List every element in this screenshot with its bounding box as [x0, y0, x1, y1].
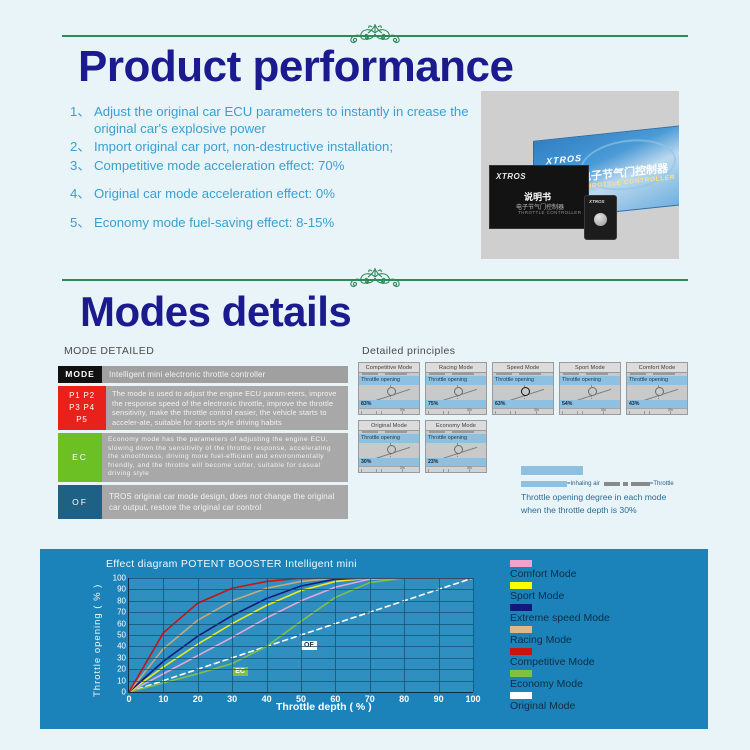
- gridline-v: [404, 578, 405, 692]
- list-item-text: Competitive mode acceleration effect: 70…: [94, 158, 470, 175]
- panel-title: Comfort Mode: [626, 362, 688, 373]
- panel-throttle-circle-icon: [521, 387, 530, 396]
- mini-legend-caption: Throttle opening degree in each mode whe…: [521, 491, 731, 516]
- x-axis-tick: 40: [262, 694, 272, 704]
- mode-description: The mode is used to adjust the engine EC…: [106, 386, 348, 430]
- panel-percentage: 83%: [359, 400, 419, 408]
- list-item-number: 5、: [70, 215, 94, 232]
- panel-band-label: Throttle opening: [359, 434, 419, 443]
- list-item: 5、 Economy mode fuel-saving effect: 8-15…: [70, 215, 470, 232]
- y-axis-tick: 0: [122, 688, 126, 697]
- panel-foot-value: 3%: [601, 408, 606, 412]
- principle-row-1: Competitive Mode Throttle opening 83% 3%…: [358, 362, 688, 415]
- chart-plot-area: OF EC 0102030405060708090100010203040506…: [128, 578, 473, 693]
- x-axis-tick: 30: [227, 694, 237, 704]
- panel-tab-right: [385, 373, 407, 375]
- device-knob-icon: [594, 213, 607, 226]
- list-item-number: 1、: [70, 104, 94, 137]
- legend-label: Comfort Mode: [510, 568, 700, 580]
- panel-body: Throttle opening 30% 3%: [358, 431, 420, 473]
- panel-foot-value: 3%: [400, 408, 405, 412]
- panel-body: Throttle opening 63% 3%: [492, 373, 554, 415]
- panel-percentage: 75%: [426, 400, 486, 408]
- y-axis-tick: 60: [117, 619, 126, 628]
- mode-description: Economy mode has the parameters of adjus…: [102, 433, 348, 482]
- panel-body: Throttle opening 54% 3%: [559, 373, 621, 415]
- principle-panel: Comfort Mode Throttle opening 43% 3%: [626, 362, 688, 415]
- page-title-product-performance: Product performance: [78, 42, 513, 92]
- panel-percentage: 63%: [493, 400, 553, 408]
- throttle-label: =Throttle: [650, 481, 674, 487]
- mode-chip: OF: [58, 485, 102, 519]
- gridline-v: [198, 578, 199, 692]
- gridline-v: [335, 578, 336, 692]
- device-brand-logo: XTROS: [589, 199, 605, 204]
- x-axis-tick: 80: [399, 694, 409, 704]
- panel-band-label: Throttle opening: [627, 376, 687, 385]
- panel-foot-value: 3%: [534, 408, 539, 412]
- table-row: EC Economy mode has the parameters of ad…: [58, 433, 348, 482]
- y-axis-tick: 50: [117, 631, 126, 640]
- x-axis-tick: 90: [434, 694, 444, 704]
- legend-swatch: [510, 604, 532, 611]
- legend-swatch: [510, 670, 532, 677]
- detailed-principles-label: Detailed principles: [362, 345, 455, 357]
- y-axis-tick: 100: [113, 574, 126, 583]
- legend-swatch: [510, 560, 532, 567]
- legend-swatch: [510, 582, 532, 589]
- panel-percentage: 54%: [560, 400, 620, 408]
- panel-foot-value: 3%: [467, 408, 472, 412]
- panel-throttle-circle-icon: [454, 387, 463, 396]
- panel-title: Original Mode: [358, 420, 420, 431]
- x-axis-tick: 60: [330, 694, 340, 704]
- y-axis-tick: 20: [117, 665, 126, 674]
- panel-title: Speed Mode: [492, 362, 554, 373]
- list-item-number: 2、: [70, 139, 94, 156]
- panel-band-label: Throttle opening: [426, 434, 486, 443]
- gridline-v: [439, 578, 440, 692]
- chart-legend: Comfort ModeSport ModeExtreme speed Mode…: [510, 560, 700, 714]
- panel-title: Racing Mode: [425, 362, 487, 373]
- y-axis-tick: 90: [117, 585, 126, 594]
- mini-legend-swatch-block: [521, 466, 583, 475]
- manual-brand-logo: XTROS: [496, 172, 526, 181]
- panel-body: Throttle opening 75% 3%: [425, 373, 487, 415]
- gridline-v: [163, 578, 164, 692]
- list-item-number: 3、: [70, 158, 94, 175]
- table-row: OF TROS original car mode design, does n…: [58, 485, 348, 519]
- principle-panel: Competitive Mode Throttle opening 83% 3%: [358, 362, 420, 415]
- x-axis-tick: 50: [296, 694, 306, 704]
- product-photo: XTROS 电子节气门控制器 THROTTLE CONTROLLER XTROS…: [481, 91, 679, 259]
- mode-chip: MODE: [58, 366, 102, 383]
- gridline-v: [267, 578, 268, 692]
- panel-throttle-circle-icon: [454, 445, 463, 454]
- y-axis-tick: 80: [117, 596, 126, 605]
- legend-label: Extreme speed Mode: [510, 612, 700, 624]
- mini-legend-row: =Inhaling air =Throttle: [521, 481, 731, 487]
- panel-body: Throttle opening 23% 3%: [425, 431, 487, 473]
- mode-detailed-table: MODE Intelligent mini electronic throttl…: [58, 366, 348, 522]
- x-axis-tick: 20: [193, 694, 203, 704]
- legend-item: Competitive Mode: [510, 648, 700, 668]
- panel-foot-value: 3%: [668, 408, 673, 412]
- y-axis-tick: 10: [117, 676, 126, 685]
- chart-y-axis-label: Throttle opening ( % ): [92, 577, 106, 703]
- list-item-text: Import original car port, non-destructiv…: [94, 139, 470, 156]
- gridline-v: [301, 578, 302, 692]
- panel-percentage: 23%: [426, 458, 486, 466]
- throttle-controller-device: XTROS: [584, 195, 617, 240]
- detailed-principles-panels: Competitive Mode Throttle opening 83% 3%…: [358, 362, 688, 478]
- legend-item: Original Mode: [510, 692, 700, 712]
- principle-panel: Racing Mode Throttle opening 75% 3%: [425, 362, 487, 415]
- panel-band-label: Throttle opening: [560, 376, 620, 385]
- panel-percentage: 30%: [359, 458, 419, 466]
- panel-throttle-circle-icon: [588, 387, 597, 396]
- x-axis-tick: 70: [365, 694, 375, 704]
- legend-item: Extreme speed Mode: [510, 604, 700, 624]
- panel-band-label: Throttle opening: [493, 376, 553, 385]
- y-axis-tick: 40: [117, 642, 126, 651]
- panel-percentage: 43%: [627, 400, 687, 408]
- mode-detailed-label: MODE DETAILED: [64, 345, 154, 357]
- legend-label: Competitive Mode: [510, 656, 700, 668]
- legend-label: Sport Mode: [510, 590, 700, 602]
- x-axis-tick: 10: [158, 694, 168, 704]
- manual-subtitle-en: THROTTLE CONTROLLER: [518, 210, 581, 215]
- legend-swatch: [510, 692, 532, 699]
- product-manual: XTROS 说明书 电子节气门控制器 THROTTLE CONTROLLER: [489, 165, 589, 229]
- gridline-v: [370, 578, 371, 692]
- legend-label: Economy Mode: [510, 678, 700, 690]
- principle-panel: Speed Mode Throttle opening 63% 3%: [492, 362, 554, 415]
- legend-swatch: [510, 648, 532, 655]
- caption-line-2: when the throttle depth is 30%: [521, 504, 731, 517]
- panel-foot: 3%: [359, 408, 419, 414]
- mode-chip: P1 P2 P3 P4 P5: [58, 386, 106, 430]
- principle-panel: Original Mode Throttle opening 30% 3%: [358, 420, 420, 473]
- chart-annotation-of: OF: [301, 641, 317, 650]
- caption-line-1: Throttle opening degree in each mode: [521, 491, 731, 504]
- table-row: MODE Intelligent mini electronic throttl…: [58, 366, 348, 383]
- principle-panel: Economy Mode Throttle opening 23% 3%: [425, 420, 487, 473]
- panel-band-label: Throttle opening: [359, 376, 419, 385]
- list-item-text: Adjust the original car ECU parameters t…: [94, 104, 470, 137]
- list-item-text: Economy mode fuel-saving effect: 8-15%: [94, 215, 470, 232]
- y-axis-tick: 70: [117, 608, 126, 617]
- mode-description: Intelligent mini electronic throttle con…: [102, 366, 348, 383]
- inhaling-air-label: =Inhaling air: [567, 481, 600, 487]
- panel-title: Sport Mode: [559, 362, 621, 373]
- x-axis-tick: 100: [465, 694, 480, 704]
- list-item: 3、 Competitive mode acceleration effect:…: [70, 158, 470, 175]
- list-item-text: Original car mode acceleration effect: 0…: [94, 186, 470, 203]
- gridline-v: [232, 578, 233, 692]
- legend-label: Racing Mode: [510, 634, 700, 646]
- table-row: P1 P2 P3 P4 P5 The mode is used to adjus…: [58, 386, 348, 430]
- legend-label: Original Mode: [510, 700, 700, 712]
- list-item: 1、 Adjust the original car ECU parameter…: [70, 104, 470, 137]
- legend-item: Economy Mode: [510, 670, 700, 690]
- panel-throttle-circle-icon: [655, 387, 664, 396]
- panel-title: Competitive Mode: [358, 362, 420, 373]
- legend-swatch: [510, 626, 532, 633]
- panel-title: Economy Mode: [425, 420, 487, 431]
- panel-foot-value: 3%: [400, 466, 405, 470]
- panel-throttle-circle-icon: [387, 387, 396, 396]
- mode-chip: EC: [58, 433, 102, 482]
- mini-legend: =Inhaling air =Throttle Throttle opening…: [521, 481, 731, 516]
- panel-band-label: Throttle opening: [426, 376, 486, 385]
- panel-throttle-circle-icon: [387, 445, 396, 454]
- y-axis-tick: 30: [117, 653, 126, 662]
- legend-item: Racing Mode: [510, 626, 700, 646]
- panel-body: Throttle opening 43% 3%: [626, 373, 688, 415]
- list-item: 4、 Original car mode acceleration effect…: [70, 186, 470, 203]
- principle-panel: Sport Mode Throttle opening 54% 3%: [559, 362, 621, 415]
- page-title-modes-details: Modes details: [80, 288, 351, 336]
- product-performance-list: 1、 Adjust the original car ECU parameter…: [70, 104, 470, 233]
- legend-item: Sport Mode: [510, 582, 700, 602]
- legend-item: Comfort Mode: [510, 560, 700, 580]
- panel-tab-left: [362, 373, 378, 375]
- gridline-v: [473, 578, 474, 692]
- throttle-swatch: [604, 482, 650, 486]
- list-item-number: 4、: [70, 186, 94, 203]
- panel-body: Throttle opening 83% 3%: [358, 373, 420, 415]
- inhaling-air-swatch: [521, 481, 567, 487]
- x-axis-tick: 0: [126, 694, 131, 704]
- list-item: 2、 Import original car port, non-destruc…: [70, 139, 470, 156]
- mode-description: TROS original car mode design, does not …: [102, 485, 348, 519]
- chart-x-axis-label: Throttle depth ( % ): [276, 701, 372, 713]
- chart-title: Effect diagram POTENT BOOSTER Intelligen…: [106, 558, 357, 570]
- panel-foot-value: 3%: [467, 466, 472, 470]
